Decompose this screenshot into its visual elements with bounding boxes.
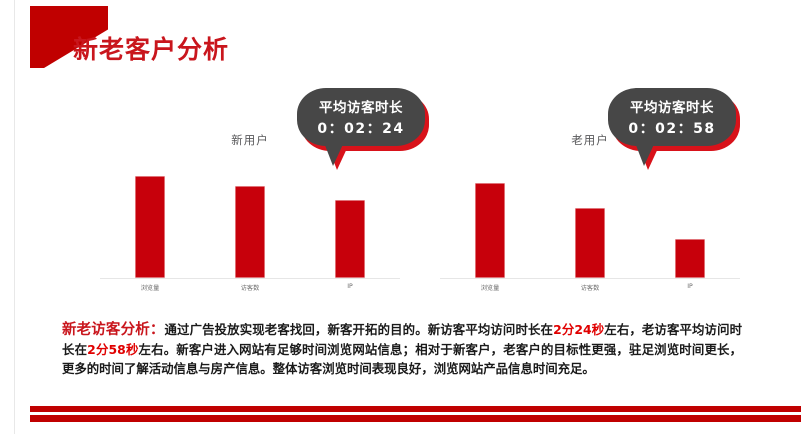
bar-old-ip[interactable] [675, 239, 705, 278]
chart-new-users: 新用户 浏览量 访客数 IP [100, 132, 400, 302]
chart-old-users: 老用户 浏览量 访客数 IP [440, 132, 740, 302]
axis-label-old-pageviews: 浏览量 [462, 282, 519, 292]
axis-label-new-visitors: 访客数 [222, 282, 279, 292]
axis-labels-new-users: 浏览量 访客数 IP [100, 282, 400, 292]
axis-label-new-pageviews: 浏览量 [122, 282, 179, 292]
axis-label-new-ip: IP [322, 282, 379, 292]
footer-rule-top [30, 406, 801, 412]
left-margin-rule [14, 0, 15, 434]
summary-highlight-new: 2分24秒 [553, 322, 604, 337]
page-title: 新老客户分析 [73, 30, 229, 66]
plot-area-old-users [440, 162, 740, 279]
axis-label-old-visitors: 访客数 [562, 282, 619, 292]
bar-new-visitors[interactable] [235, 186, 265, 278]
callout-value-old: 0：02：58 [628, 118, 715, 138]
summary-paragraph: 新老访客分析：通过广告投放实现老客找回，新客开拓的目的。新访客平均访问时长在2分… [62, 320, 742, 378]
callout-text-new: 平均访客时长 0：02：24 [297, 88, 425, 146]
plot-area-new-users [100, 162, 400, 279]
callout-label-old: 平均访客时长 [630, 96, 714, 116]
bar-old-visitors[interactable] [575, 208, 605, 278]
axis-labels-old-users: 浏览量 访客数 IP [440, 282, 740, 292]
bar-group-old-users [440, 162, 740, 278]
summary-lead: 新老访客分析： [62, 322, 165, 338]
bar-new-ip[interactable] [335, 200, 365, 278]
summary-seg1: 通过广告投放实现老客找回，新客开拓的目的。新访客平均访问时长在 [165, 322, 554, 337]
callout-text-old: 平均访客时长 0：02：58 [608, 88, 736, 146]
summary-highlight-old: 2分58秒 [87, 342, 138, 357]
callout-old-visitor-duration: 平均访客时长 0：02：58 [608, 88, 736, 146]
bar-old-pageviews[interactable] [475, 183, 505, 278]
callout-new-visitor-duration: 平均访客时长 0：02：24 [297, 88, 425, 146]
axis-label-old-ip: IP [662, 282, 719, 292]
footer-rule-bottom [30, 415, 801, 422]
slide-canvas: 新老客户分析 新用户 浏览量 访客数 IP 老用户 浏览量 [0, 0, 801, 434]
callout-value-new: 0：02：24 [317, 118, 404, 138]
bar-new-pageviews[interactable] [135, 176, 165, 278]
bar-group-new-users [100, 162, 400, 278]
summary-seg3: 左右。新客户进入网站有足够时间浏览网站信息；相对于新客户，老客户的目标性更强，驻… [62, 342, 742, 376]
callout-label-new: 平均访客时长 [319, 96, 403, 116]
